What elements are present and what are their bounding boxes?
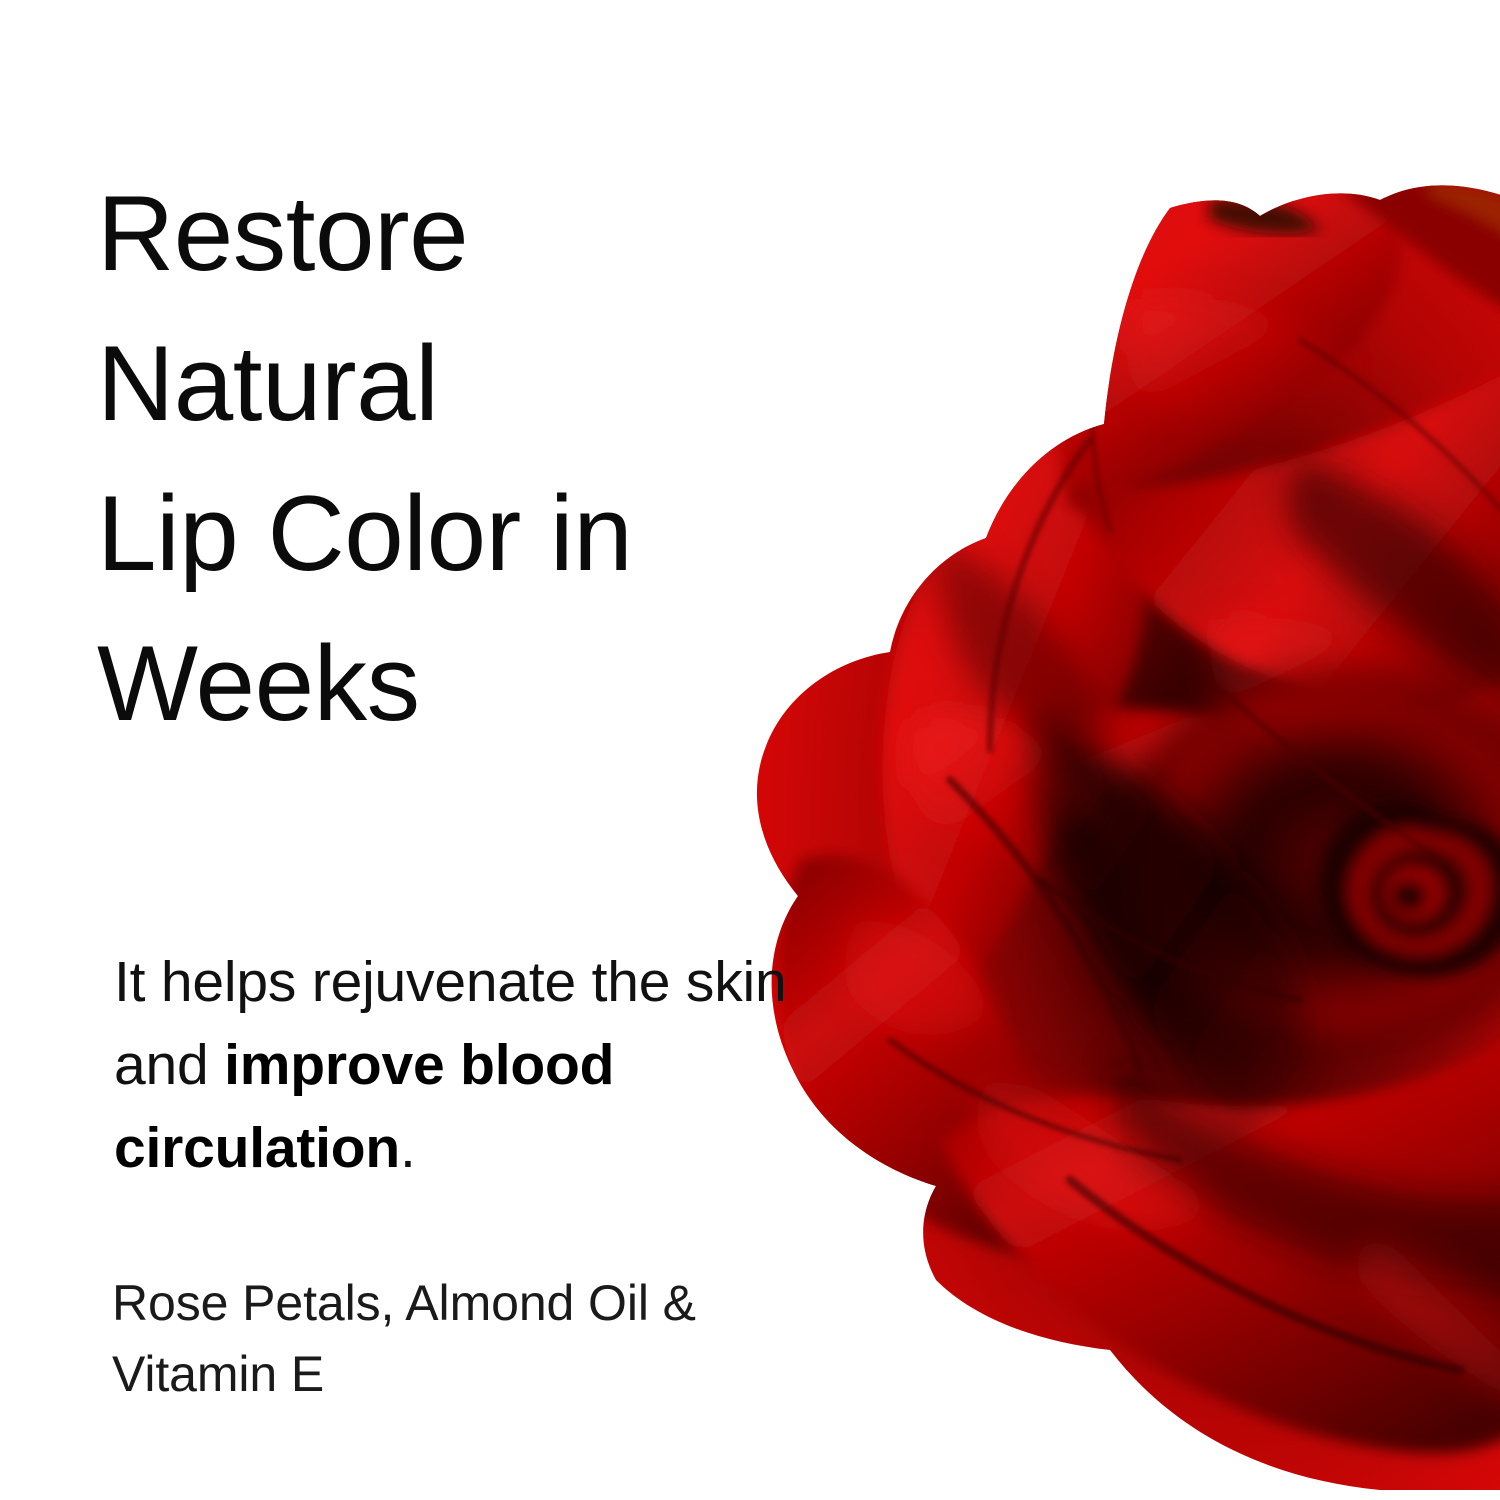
rose-image <box>740 160 1500 1490</box>
promo-graphic-canvas: Restore Natural Lip Color in Weeks It he… <box>0 0 1500 1500</box>
body-paragraph: It helps rejuvenate the skin and improve… <box>114 941 794 1190</box>
ingredients-list: Rose Petals, Almond Oil & Vitamin E <box>112 1268 812 1410</box>
text-column: Restore Natural Lip Color in Weeks It he… <box>0 0 820 1500</box>
rose-illustration <box>740 160 1500 1490</box>
body-trailing-text: . <box>400 1116 416 1180</box>
page-title: Restore Natural Lip Color in Weeks <box>97 158 797 758</box>
